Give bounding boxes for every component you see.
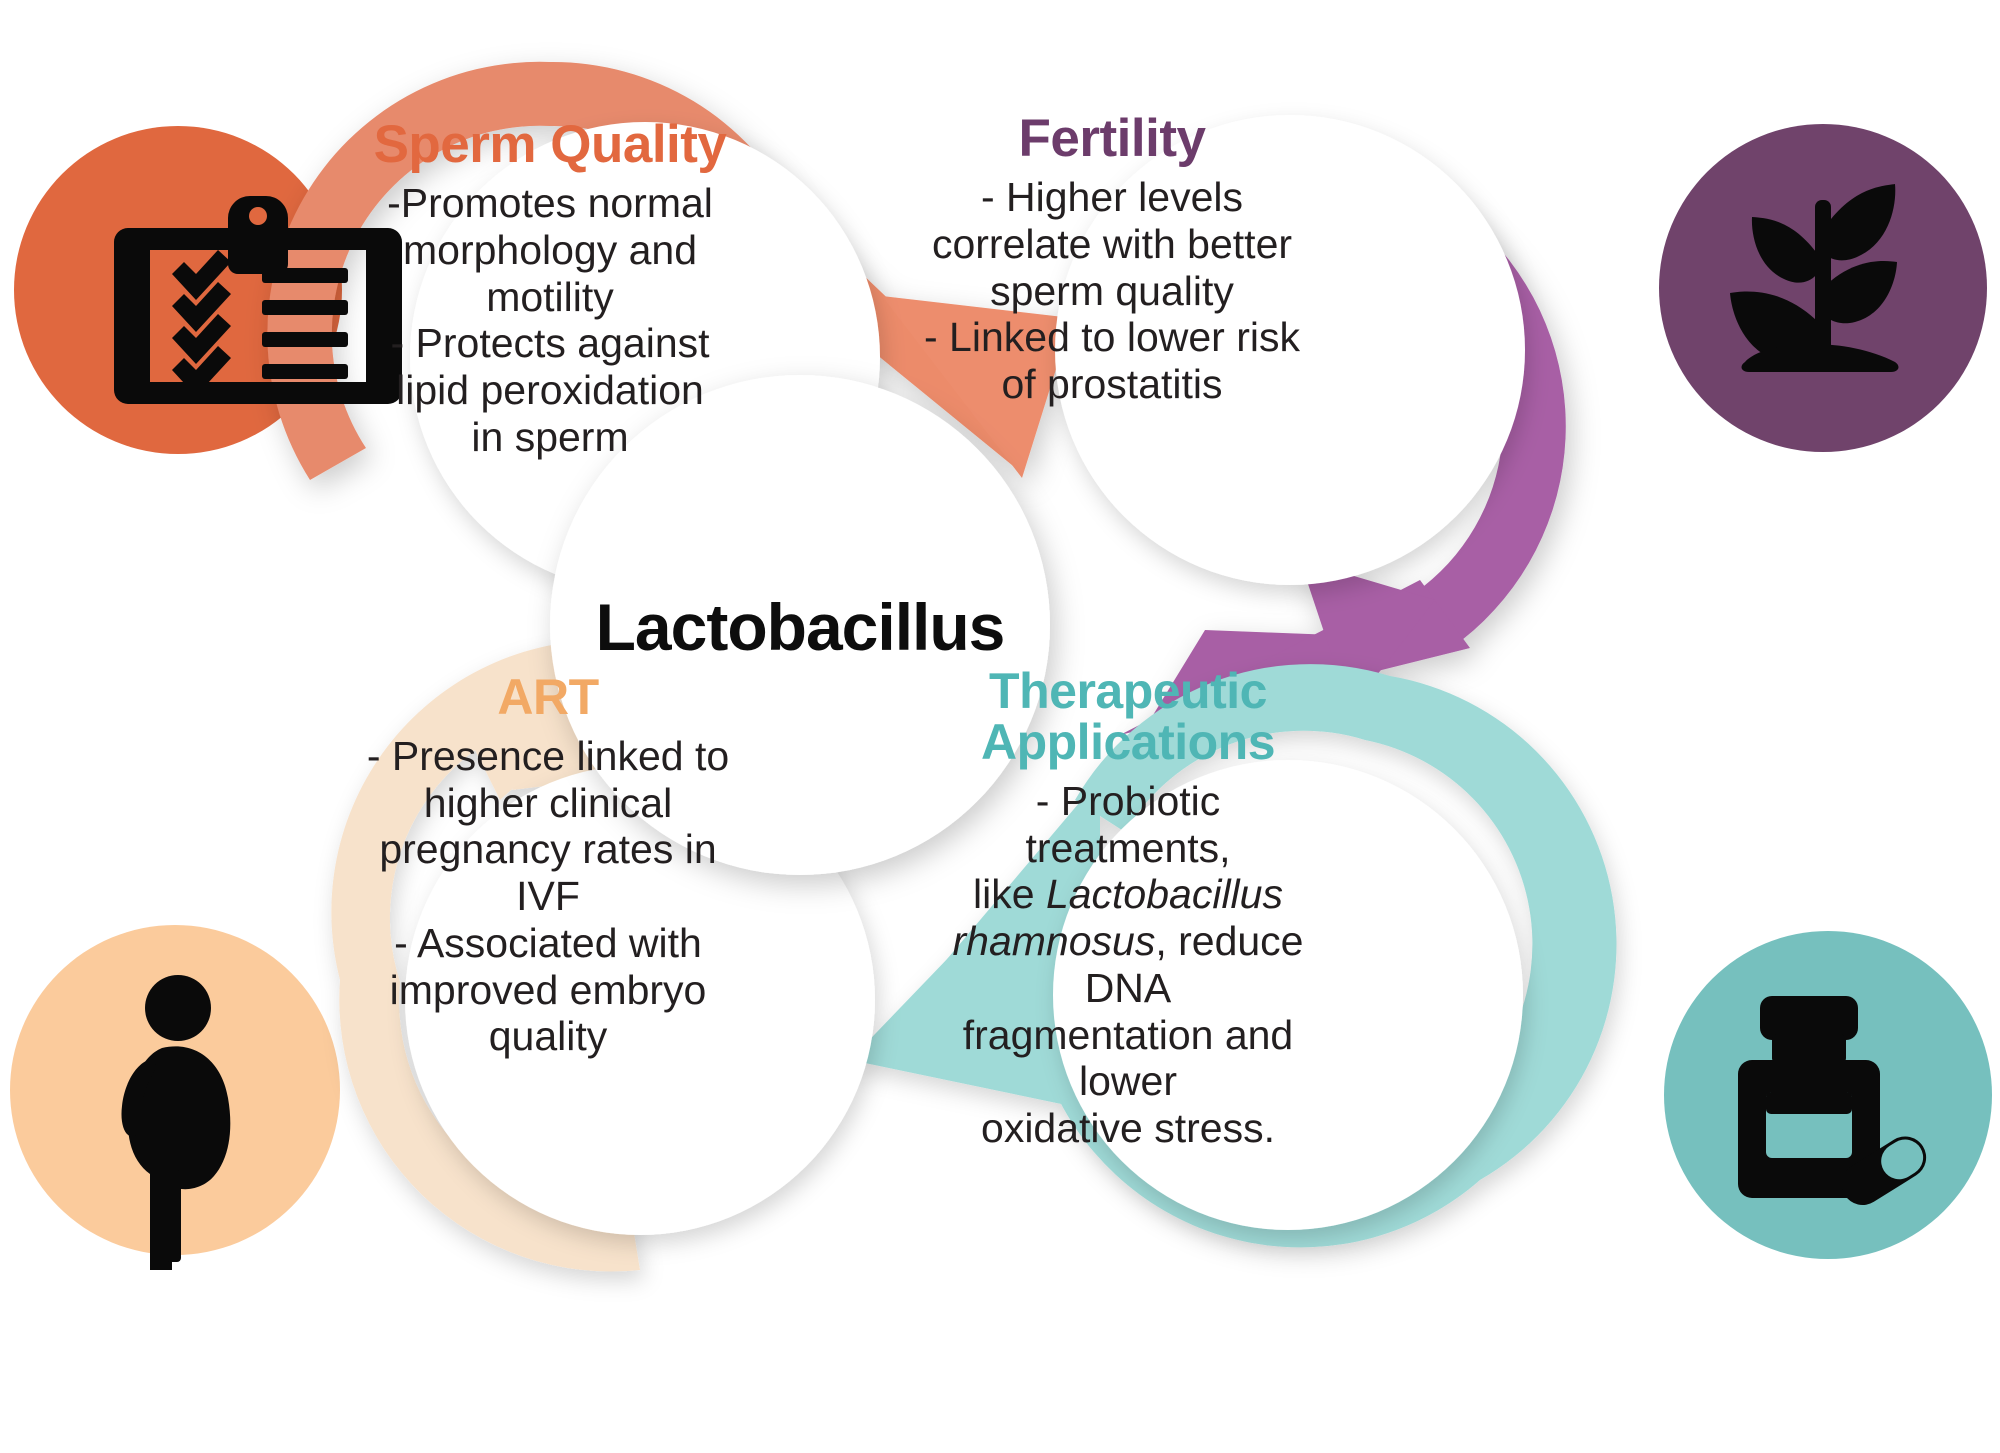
body-line: - Associated with — [352, 920, 744, 967]
body-line: -Promotes normal — [352, 180, 748, 227]
species-name-italic: Lactobacillus — [1046, 871, 1283, 917]
body-line: - Probiotic treatments, — [928, 778, 1328, 871]
node-therapeutic-applications[interactable]: Therapeutic Applications - Probiotic tre… — [928, 666, 1328, 1152]
body-line: higher clinical — [352, 780, 744, 827]
body-line: sperm quality — [922, 268, 1302, 315]
body-line: - Higher levels — [922, 174, 1302, 221]
body-line: motility — [352, 274, 748, 321]
body-line: improved embryo — [352, 967, 744, 1014]
body-line: correlate with better — [922, 221, 1302, 268]
node-body-sperm-quality: -Promotes normal morphology and motility… — [352, 180, 748, 460]
title-line: Applications — [981, 714, 1275, 770]
body-line: morphology and — [352, 227, 748, 274]
node-sperm-quality[interactable]: Sperm Quality -Promotes normal morpholog… — [352, 118, 748, 460]
center-label: Lactobacillus — [596, 589, 1005, 665]
body-line: - Linked to lower risk — [922, 314, 1302, 361]
node-title-therapeutic-applications: Therapeutic Applications — [928, 666, 1328, 768]
body-line: in sperm — [352, 414, 748, 461]
node-title-sperm-quality: Sperm Quality — [352, 118, 748, 172]
node-title-art: ART — [352, 672, 744, 723]
node-body-fertility: - Higher levels correlate with better sp… — [922, 174, 1302, 408]
node-fertility[interactable]: Fertility - Higher levels correlate with… — [922, 112, 1302, 408]
body-line: oxidative stress. — [928, 1105, 1328, 1152]
body-line: of prostatitis — [922, 361, 1302, 408]
node-title-fertility: Fertility — [922, 112, 1302, 166]
node-body-therapeutic-applications: - Probiotic treatments, like Lactobacill… — [928, 778, 1328, 1152]
node-body-art: - Presence linked to higher clinical pre… — [352, 733, 744, 1060]
body-line: IVF — [352, 873, 744, 920]
body-line: lipid peroxidation — [352, 367, 748, 414]
body-text: like — [973, 871, 1046, 917]
body-line: rhamnosus, reduce DNA — [928, 918, 1328, 1011]
body-line: like Lactobacillus — [928, 871, 1328, 918]
node-art[interactable]: ART - Presence linked to higher clinical… — [352, 672, 744, 1060]
body-line: pregnancy rates in — [352, 826, 744, 873]
body-line: - Presence linked to — [352, 733, 744, 780]
infographic-canvas: Sperm Quality -Promotes normal morpholog… — [0, 0, 2000, 1453]
body-line: - Protects against — [352, 320, 748, 367]
title-line: Therapeutic — [989, 663, 1267, 719]
body-line: quality — [352, 1013, 744, 1060]
body-line: fragmentation and lower — [928, 1012, 1328, 1105]
species-name-italic: rhamnosus — [953, 918, 1156, 964]
